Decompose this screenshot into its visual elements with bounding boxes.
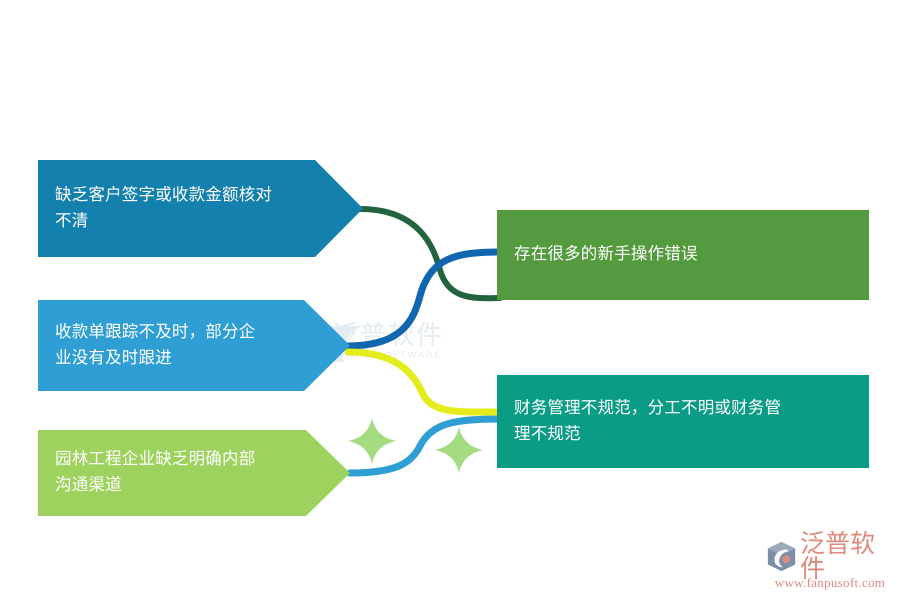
left-callout-1[interactable]: 缺乏客户签字或收款金额核对 不清	[38, 160, 363, 257]
right-box-2[interactable]: 财务管理不规范，分工不明或财务管 理不规范	[497, 375, 869, 468]
brand-logo-url: www.fanpusoft.com	[766, 575, 894, 591]
right-box-1-label: 存在很多的新手操作错误	[497, 242, 712, 268]
right-box-1[interactable]: 存在很多的新手操作错误	[497, 210, 869, 300]
brand-logo: 泛普软件 www.fanpusoft.com	[766, 540, 894, 592]
diagram-canvas: 泛普软件 FANPU SOFTWARE 缺乏客户签字或收款金额核对 不清	[0, 0, 900, 600]
left-callout-3-label: 园林工程企业缺乏明确内部 沟通渠道	[38, 447, 315, 498]
left-callout-1-label: 缺乏客户签字或收款金额核对 不清	[38, 183, 332, 234]
left-callout-2[interactable]: 收款单跟踪不及时，部分企 业没有及时跟进	[38, 300, 350, 391]
right-box-2-label: 财务管理不规范，分工不明或财务管 理不规范	[497, 396, 795, 447]
brand-mark-icon	[766, 540, 797, 573]
shape-layer: 缺乏客户签字或收款金额核对 不清 收款单跟踪不及时，部分企 业没有及时跟进 园林…	[0, 0, 900, 600]
brand-logo-row: 泛普软件	[766, 540, 894, 573]
left-callout-3[interactable]: 园林工程企业缺乏明确内部 沟通渠道	[38, 430, 350, 516]
brand-logo-cn: 泛普软件	[800, 532, 894, 582]
left-callout-2-label: 收款单跟踪不及时，部分企 业没有及时跟进	[38, 320, 315, 371]
